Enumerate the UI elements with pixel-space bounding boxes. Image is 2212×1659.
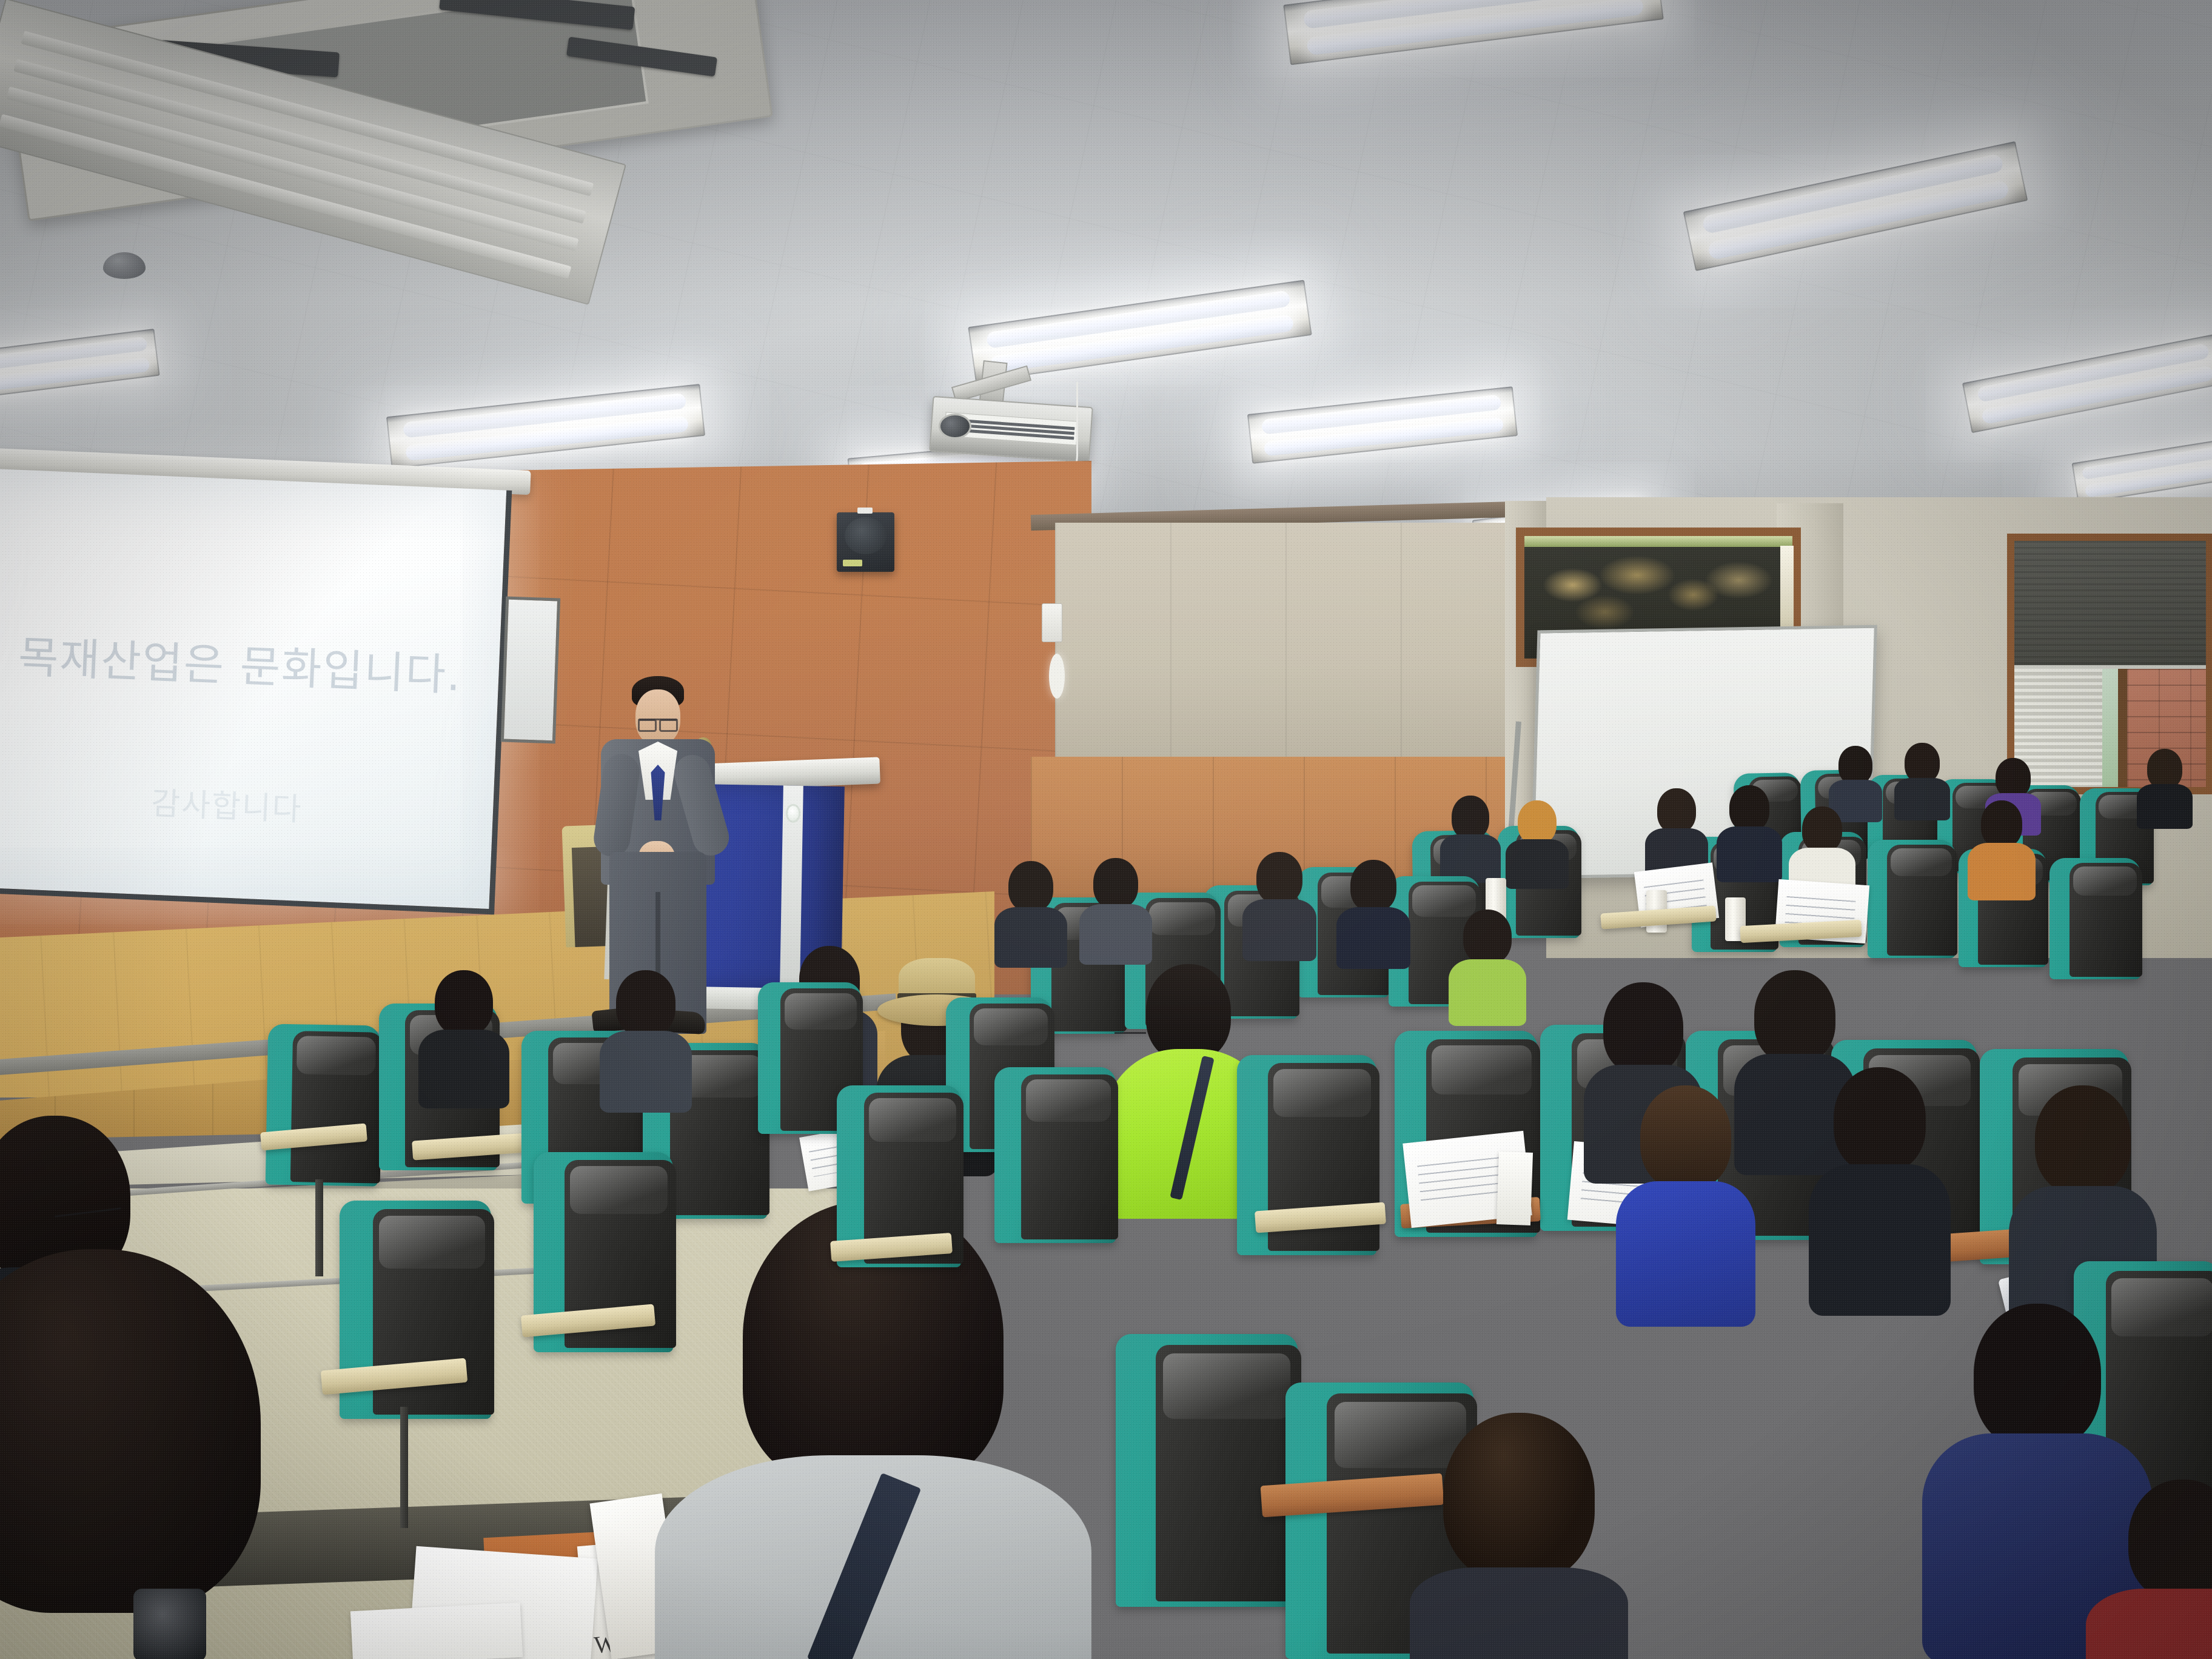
person-head	[616, 970, 675, 1037]
window-roller-blind[interactable]	[2014, 541, 2206, 669]
ceiling-dome-sensor	[103, 252, 146, 279]
person-torso	[600, 1031, 692, 1113]
audience-person	[1000, 861, 1061, 958]
person-head	[1518, 800, 1557, 844]
presenter	[597, 676, 719, 1016]
person-torso	[1410, 1567, 1628, 1659]
person-head	[1981, 800, 2022, 848]
slide-subtitle-text: 감사합니다	[150, 777, 303, 829]
audience-person	[1419, 1413, 1619, 1659]
person-torso	[1717, 826, 1782, 882]
person-torso	[1506, 839, 1569, 889]
person-torso	[1449, 959, 1526, 1026]
wall-light-fixture	[1049, 654, 1065, 699]
headphone-earcup	[133, 1589, 206, 1659]
slide-title-text: 목재산업은 문화입니다.	[17, 621, 463, 703]
speaker-bracket	[857, 508, 873, 514]
audience-person	[1085, 858, 1146, 955]
small-wall-whiteboard	[501, 597, 560, 744]
printed-handout[interactable]	[350, 1603, 523, 1659]
audience-person	[1722, 785, 1777, 870]
audience-person	[1795, 806, 1849, 891]
leaf-icon	[791, 803, 796, 808]
seat[interactable]	[994, 1067, 1116, 1243]
audience-person	[1974, 800, 2029, 888]
audience-person	[1819, 1067, 1940, 1292]
person-head	[1093, 858, 1138, 909]
person-head	[1905, 743, 1940, 783]
person-torso	[1336, 907, 1410, 969]
projection-screen: 목재산업은 문화입니다. 감사합니다	[0, 468, 512, 915]
person-torso	[1968, 843, 2036, 900]
window-top-light	[1524, 536, 1792, 547]
window-foliage-pane	[2102, 669, 2117, 787]
acoustic-panel-wall	[1055, 523, 1516, 759]
audience-person	[1946, 1304, 2128, 1643]
audience-person-grey-tee	[661, 1201, 1085, 1659]
person-torso	[1616, 1181, 1755, 1327]
window-edge-light	[1780, 546, 1794, 631]
person-head	[0, 1249, 261, 1613]
person-torso	[994, 907, 1067, 968]
presenter-head	[635, 689, 680, 745]
person-head	[1657, 788, 1696, 833]
person-torso	[418, 1030, 509, 1108]
projector-lens	[939, 414, 971, 439]
person-head	[1146, 964, 1231, 1061]
audience-person	[2140, 749, 2189, 819]
audience-person	[606, 970, 685, 1101]
window-mullion	[2118, 669, 2128, 787]
person-head	[1729, 785, 1769, 831]
audience-person	[1455, 910, 1519, 1016]
seat[interactable]	[2049, 858, 2140, 979]
speaker-label	[843, 560, 862, 566]
person-head	[1452, 796, 1489, 839]
seat[interactable]	[1868, 840, 1956, 958]
speaker-cone	[845, 517, 886, 554]
person-head	[1834, 1067, 1926, 1173]
seat[interactable]	[1116, 1334, 1298, 1607]
person-head	[1974, 1304, 2101, 1449]
audience-person	[424, 970, 503, 1098]
audience-person	[1443, 796, 1498, 874]
person-head	[1463, 910, 1512, 964]
audience-person-blue-top	[1625, 1085, 1746, 1304]
person-torso	[1242, 899, 1316, 961]
seat-leg	[315, 1179, 323, 1276]
wall-control-plate	[1042, 603, 1062, 642]
person-head	[1640, 1085, 1731, 1190]
audience-person	[1831, 746, 1880, 813]
person-torso	[1440, 834, 1501, 883]
audience-person	[1249, 852, 1310, 952]
audience-person	[1510, 800, 1564, 879]
person-head	[1603, 982, 1683, 1074]
audience-person	[2104, 1480, 2212, 1659]
milk-carton[interactable]	[1496, 1151, 1533, 1225]
person-torso	[2137, 784, 2193, 829]
person-torso	[1894, 778, 1950, 820]
person-torso	[1079, 904, 1152, 965]
audience-person	[1343, 860, 1404, 960]
seat-leg	[400, 1407, 408, 1528]
eyeglasses-icon	[638, 719, 678, 727]
person-head	[1350, 860, 1396, 912]
lecture-hall-photo: 목재산업은 문화입니다. 감사합니다	[0, 0, 2212, 1659]
person-head	[435, 970, 493, 1036]
person-head	[2147, 749, 2182, 789]
person-head	[2128, 1480, 2212, 1601]
person-head	[1443, 1413, 1595, 1583]
projection-screen-surface: 목재산업은 문화입니다. 감사합니다	[0, 468, 512, 915]
person-head	[1838, 746, 1872, 785]
eyeglasses-icon	[1114, 1032, 1146, 1034]
person-torso	[2086, 1589, 2212, 1659]
person-head	[2035, 1085, 2131, 1195]
person-head	[1754, 970, 1835, 1064]
seat[interactable]	[266, 1024, 381, 1186]
person-head	[1996, 758, 2031, 798]
person-torso	[1809, 1164, 1951, 1316]
person-head	[1802, 806, 1842, 853]
audience-person	[1898, 743, 1946, 809]
person-head	[1256, 852, 1302, 904]
audience-person	[1649, 788, 1704, 873]
person-head	[1008, 861, 1053, 912]
wall-mounted-loudspeaker	[837, 512, 894, 572]
